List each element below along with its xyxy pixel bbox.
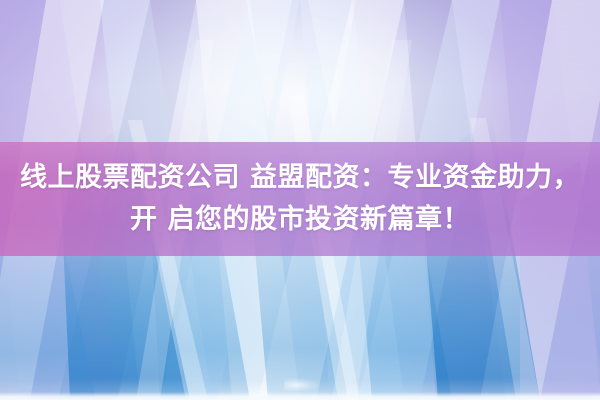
bottom-highlight-strip bbox=[0, 392, 600, 400]
promo-banner: 线上股票配资公司 益盟配资：专业资金助力，开 启您的股市投资新篇章！ bbox=[0, 0, 600, 400]
bottom-light-artifact bbox=[284, 378, 320, 391]
page-title: 线上股票配资公司 益盟配资：专业资金助力，开 启您的股市投资新篇章！ bbox=[20, 157, 580, 241]
headline-line-2: 启您的股市投资新篇章！ bbox=[167, 204, 470, 235]
headline-band: 线上股票配资公司 益盟配资：专业资金助力，开 启您的股市投资新篇章！ bbox=[0, 142, 600, 256]
